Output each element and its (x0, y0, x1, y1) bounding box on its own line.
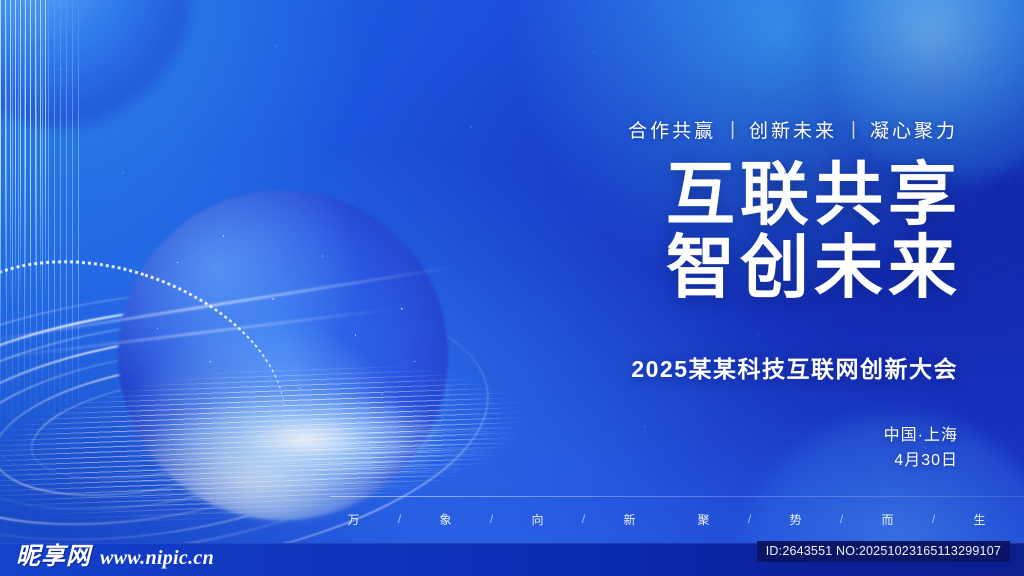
slogan-left-char-1: 万 (330, 511, 378, 528)
slogan-right-sep-1: / (728, 512, 772, 526)
title-line-2: 智创未来 (532, 231, 962, 304)
slogan-group-left: 万 / 象 / 向 / 新 (330, 511, 654, 528)
kicker-line: 合作共赢 | 创新未来 | 凝心聚力 (628, 116, 958, 143)
slogan-left-sep-3: / (562, 512, 606, 526)
watermark: 昵享网 www.nipic.cn (16, 536, 214, 571)
kicker-separator-1: | (730, 119, 735, 141)
asset-id-plate: ID:2643551 NO:20251023165113299107 (757, 541, 1010, 562)
slogan-right-sep-3: / (912, 512, 956, 526)
slogan-right-sep-2: / (820, 512, 864, 526)
slogan-strip: 万 / 象 / 向 / 新 聚 / 势 / 而 / 生 (330, 505, 1004, 533)
slogan-left-sep-2: / (470, 512, 514, 526)
event-meta: 中国·上海 4月30日 (884, 424, 958, 474)
slogan-right-char-4: 生 (956, 511, 1004, 528)
slogan-right-char-1: 聚 (680, 511, 728, 528)
kicker-item-2: 创新未来 (749, 116, 837, 143)
event-subtitle: 2025某某科技互联网创新大会 (631, 350, 958, 384)
slogan-left-char-2: 象 (422, 511, 470, 528)
title-line-1: 互联共享 (666, 156, 962, 233)
page-title: 互联共享 智创未来 (532, 158, 962, 304)
event-location: 中国·上海 (884, 424, 958, 449)
banner-content: 合作共赢 | 创新未来 | 凝心聚力 互联共享 智创未来 2025某某科技互联网… (0, 0, 1024, 576)
slogan-group-right: 聚 / 势 / 而 / 生 (680, 511, 1004, 528)
kicker-separator-2: | (851, 119, 856, 141)
nipic-url: www.nipic.cn (100, 547, 214, 570)
slogan-left-char-3: 向 (514, 511, 562, 528)
kicker-item-1: 合作共赢 (628, 116, 716, 143)
nipic-logo: 昵享网 (16, 536, 91, 571)
kicker-item-3: 凝心聚力 (870, 116, 958, 143)
slogan-right-char-2: 势 (772, 511, 820, 528)
strip-divider (330, 496, 1024, 497)
event-date: 4月30日 (884, 449, 958, 474)
slogan-right-char-3: 而 (864, 511, 912, 528)
banner-canvas: 合作共赢 | 创新未来 | 凝心聚力 互联共享 智创未来 2025某某科技互联网… (0, 0, 1024, 576)
slogan-left-sep-1: / (378, 512, 422, 526)
slogan-left-char-4: 新 (606, 511, 654, 528)
